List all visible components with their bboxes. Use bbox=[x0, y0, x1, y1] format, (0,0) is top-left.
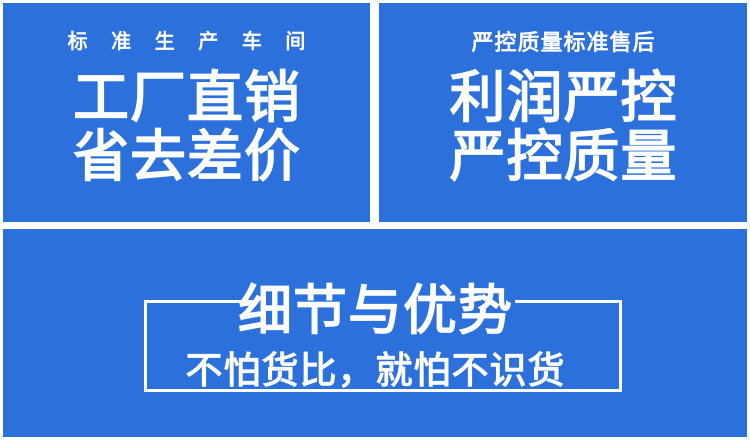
panel-details-advantages-subtitle: 不怕货比，就怕不识货 bbox=[185, 352, 566, 389]
panel-quality-control-headline-line1: 利润严控 bbox=[449, 69, 678, 126]
promo-banner: 标 准 生 产 车 间 工厂直销 省去差价 严控质量标准售后 利润严控 严控质量… bbox=[0, 0, 750, 440]
panel-factory-direct-headline-line1: 工厂直销 bbox=[72, 69, 301, 126]
panel-quality-control-headline-line2: 严控质量 bbox=[449, 128, 678, 185]
panel-quality-control-eyebrow: 严控质量标准售后 bbox=[470, 32, 655, 54]
panel-details-advantages: 细节与优势 不怕货比，就怕不识货 bbox=[3, 229, 747, 437]
panel-factory-direct-eyebrow: 标 准 生 产 车 间 bbox=[59, 32, 315, 52]
panel-factory-direct: 标 准 生 产 车 间 工厂直销 省去差价 bbox=[3, 3, 370, 222]
panel-quality-control: 严控质量标准售后 利润严控 严控质量 bbox=[379, 3, 747, 222]
panel-details-advantages-text: 细节与优势 不怕货比，就怕不识货 bbox=[185, 284, 566, 389]
panel-factory-direct-headline-line2: 省去差价 bbox=[72, 128, 301, 185]
panel-details-advantages-title: 细节与优势 bbox=[237, 284, 513, 338]
